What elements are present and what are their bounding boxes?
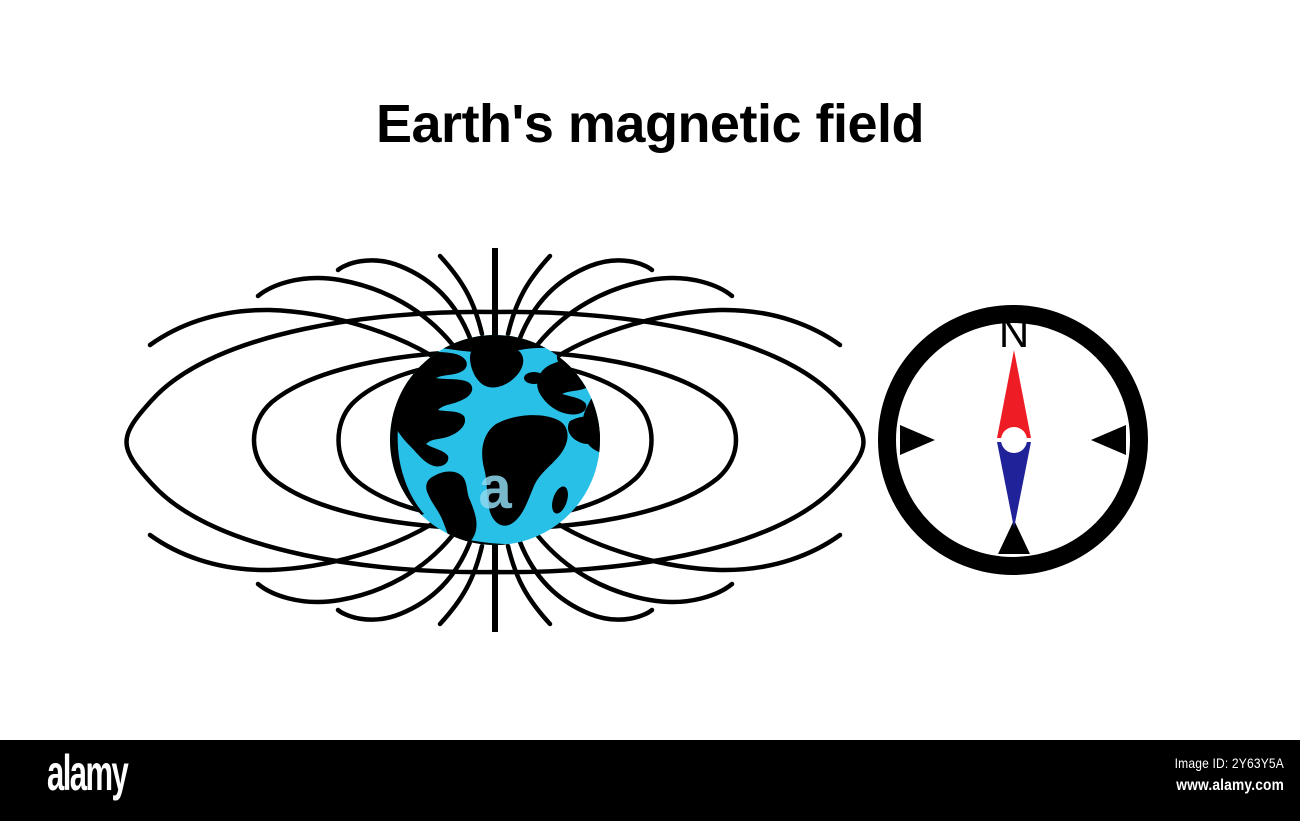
compass: N <box>887 309 1139 566</box>
globe-watermark-letter: a <box>478 454 512 521</box>
illustration-canvas: Earth's magnetic field <box>0 0 1300 740</box>
continent-east-rim <box>584 347 696 506</box>
screenshot-root: Earth's magnetic field <box>0 0 1300 821</box>
alamy-logo: alamy <box>47 747 127 800</box>
compass-north-label: N <box>999 309 1029 356</box>
magnetic-field-figure: a N <box>0 0 1300 740</box>
continent-southeast-asia <box>609 457 645 482</box>
polar-line-sw-3 <box>150 524 432 570</box>
polar-line-se-3 <box>558 524 840 570</box>
alamy-website-link[interactable]: www.alamy.com <box>1060 774 1284 798</box>
footer-meta: Image ID: 2Y63Y5A www.alamy.com <box>1024 752 1284 798</box>
image-id-label: Image ID: 2Y63Y5A <box>1060 752 1284 774</box>
compass-pivot <box>1001 427 1027 453</box>
